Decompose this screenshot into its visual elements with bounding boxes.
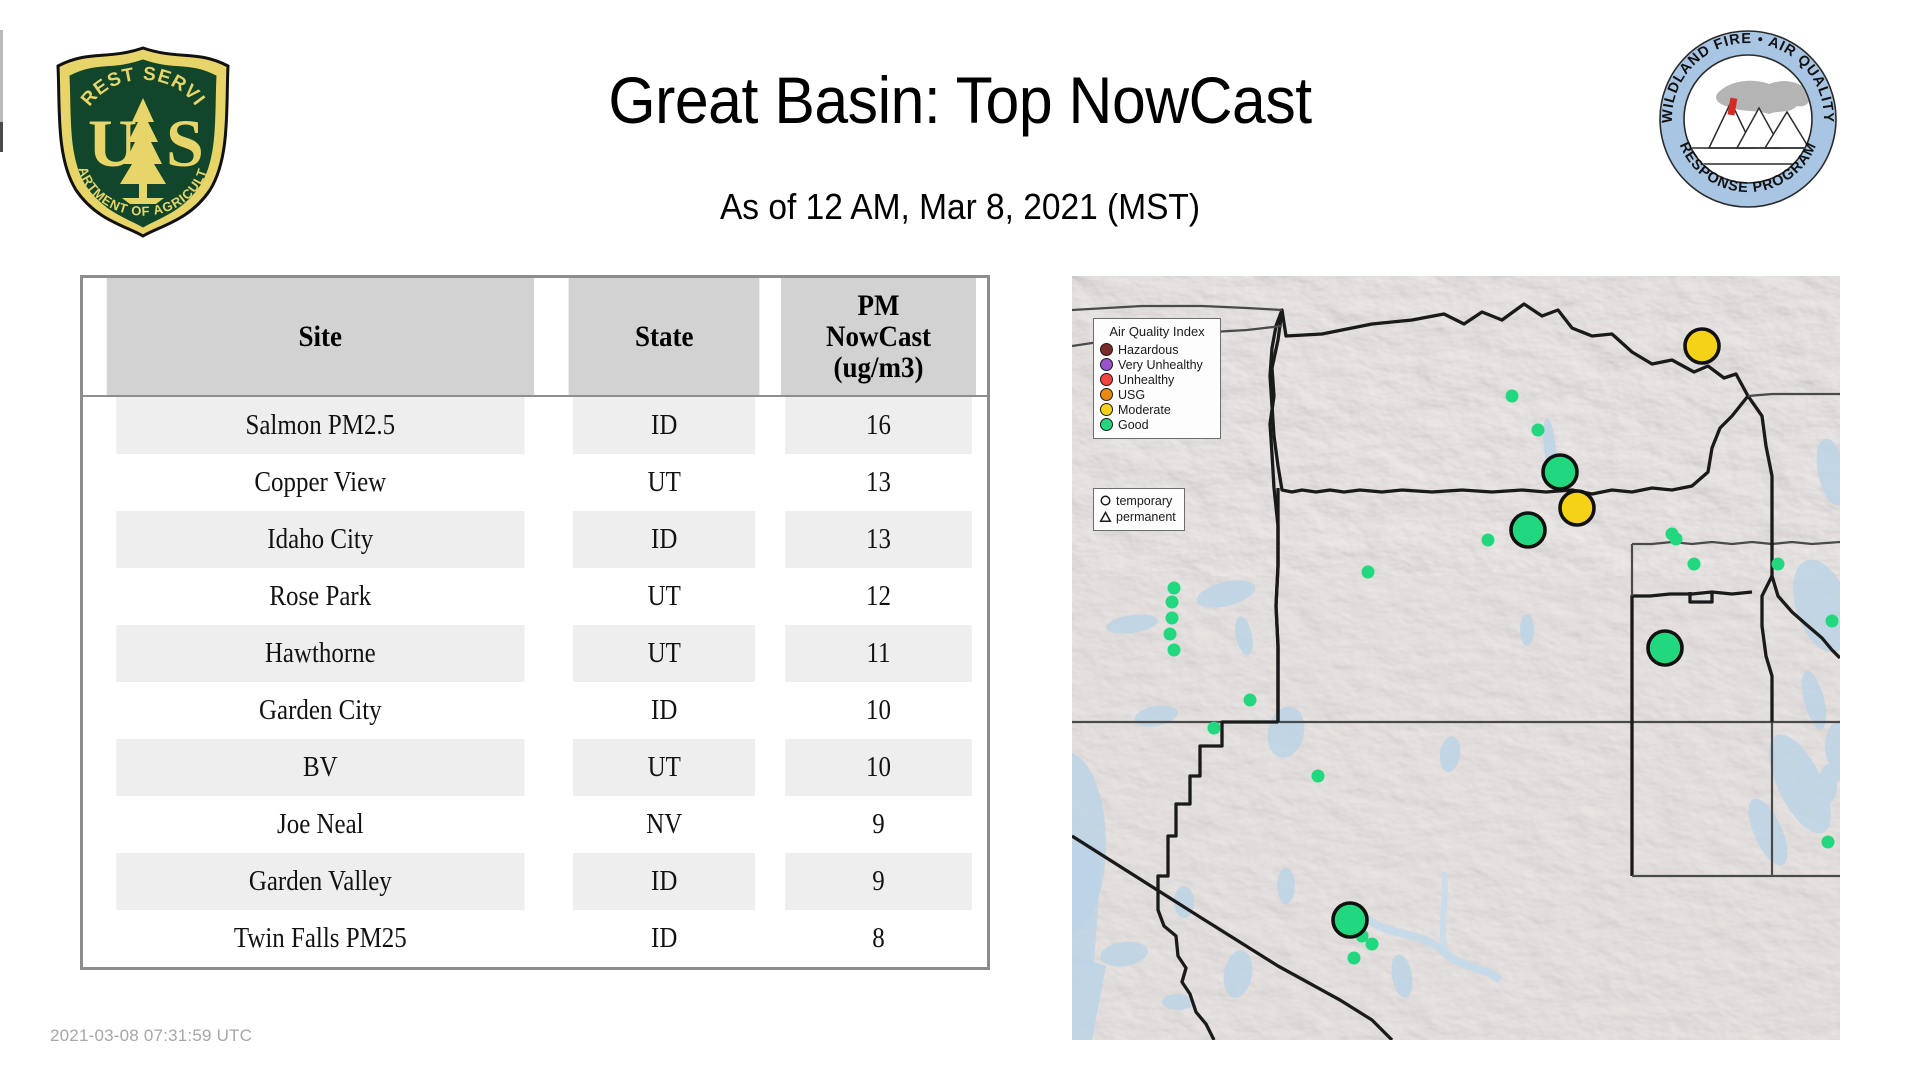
table-row: Salmon PM2.5ID16 (83, 396, 987, 454)
map-monitor-marker[interactable] (1482, 534, 1495, 547)
map-monitor-marker[interactable] (1164, 628, 1177, 641)
table-header-row: Site State PM NowCast (ug/m3) (83, 278, 987, 396)
legend-aqi-swatch-icon (1100, 343, 1113, 356)
table-cell-site: Hawthorne (116, 625, 524, 682)
map-site-marker-good[interactable] (1648, 631, 1682, 665)
legend-aqi-swatch-icon (1100, 388, 1113, 401)
legend-aqi-item: Very Unhealthy (1100, 357, 1214, 372)
legend-aqi-swatch-icon (1100, 358, 1113, 371)
table-row: Idaho CityID13 (83, 511, 987, 568)
great-basin-map[interactable]: Air Quality Index HazardousVery Unhealth… (1072, 276, 1840, 1040)
footer-timestamp: 2021-03-08 07:31:59 UTC (50, 1026, 252, 1046)
table-cell-state: ID (572, 910, 755, 967)
table-cell-state: UT (572, 454, 755, 511)
table-row: Garden CityID10 (83, 682, 987, 739)
legend-type-item-temporary: temporary (1099, 493, 1179, 509)
legend-aqi-swatch-icon (1100, 373, 1113, 386)
table-cell-value: 8 (785, 910, 972, 967)
top-nowcast-table: Site State PM NowCast (ug/m3) Salmon PM2… (80, 275, 990, 970)
column-header-state-label: State (572, 321, 756, 352)
table-cell-site: Salmon PM2.5 (116, 396, 524, 454)
column-header-pm-line1: PM (784, 290, 972, 321)
legend-aqi-label: Very Unhealthy (1118, 358, 1203, 372)
map-monitor-marker[interactable] (1244, 694, 1257, 707)
table-cell-site: Copper View (116, 454, 524, 511)
map-site-marker-moderate[interactable] (1685, 329, 1719, 363)
table-row: BVUT10 (83, 739, 987, 796)
legend-aqi-item: USG (1100, 387, 1214, 402)
map-monitor-marker[interactable] (1208, 722, 1221, 735)
table-cell-site: Joe Neal (116, 796, 524, 853)
table-row: Garden ValleyID9 (83, 853, 987, 910)
legend-aqi-item: Moderate (1100, 402, 1214, 417)
column-header-pm-line2: NowCast (784, 321, 972, 352)
table-cell-site: Garden City (116, 682, 524, 739)
column-header-state: State (568, 278, 759, 396)
table-cell-state: ID (572, 682, 755, 739)
map-site-marker-good[interactable] (1333, 903, 1367, 937)
legend-aqi-label: Unhealthy (1118, 373, 1174, 387)
column-header-pm-nowcast: PM NowCast (ug/m3) (781, 278, 976, 396)
map-monitor-marker[interactable] (1670, 533, 1683, 546)
table-row: Twin Falls PM25ID8 (83, 910, 987, 967)
legend-aqi-swatch-icon (1100, 403, 1113, 416)
table-row: Joe NealNV9 (83, 796, 987, 853)
legend-aqi-item: Unhealthy (1100, 372, 1214, 387)
map-monitor-marker[interactable] (1826, 615, 1839, 628)
map-monitor-marker[interactable] (1166, 612, 1179, 625)
table-cell-site: Rose Park (116, 568, 524, 625)
table-row: HawthorneUT11 (83, 625, 987, 682)
table-cell-site: Idaho City (116, 511, 524, 568)
column-header-site-label: Site (110, 321, 530, 352)
map-monitor-marker[interactable] (1312, 770, 1325, 783)
table-cell-value: 13 (785, 511, 972, 568)
table-cell-value: 10 (785, 739, 972, 796)
legend-aqi-item: Good (1100, 417, 1214, 432)
map-legend-site-type: temporary permanent (1093, 488, 1185, 531)
map-monitor-marker[interactable] (1348, 952, 1361, 965)
circle-icon (1099, 495, 1112, 508)
map-monitor-marker[interactable] (1688, 558, 1701, 571)
left-edge-artifact-light (0, 30, 3, 122)
map-legend-aqi: Air Quality Index HazardousVery Unhealth… (1093, 318, 1221, 439)
legend-aqi-label: Moderate (1118, 403, 1171, 417)
table-cell-state: UT (572, 625, 755, 682)
table-cell-value: 16 (785, 396, 972, 454)
left-edge-artifact-dark (0, 122, 3, 152)
map-monitor-marker[interactable] (1362, 566, 1375, 579)
map-monitor-marker[interactable] (1366, 938, 1379, 951)
legend-type-label-permanent: permanent (1116, 510, 1176, 524)
table-cell-state: UT (572, 568, 755, 625)
table-cell-state: ID (572, 396, 755, 454)
table-cell-value: 9 (785, 796, 972, 853)
table-cell-value: 11 (785, 625, 972, 682)
map-site-marker-good[interactable] (1543, 455, 1577, 489)
column-header-pm-line3: (ug/m3) (784, 352, 972, 383)
map-monitor-marker[interactable] (1772, 558, 1785, 571)
table-cell-site: BV (116, 739, 524, 796)
legend-aqi-title: Air Quality Index (1100, 324, 1214, 339)
table-cell-state: NV (572, 796, 755, 853)
map-monitor-marker[interactable] (1506, 390, 1519, 403)
map-monitor-marker[interactable] (1168, 582, 1181, 595)
column-header-site: Site (107, 278, 534, 396)
map-monitor-marker[interactable] (1168, 644, 1181, 657)
triangle-icon (1099, 511, 1112, 524)
legend-aqi-item: Hazardous (1100, 342, 1214, 357)
table-cell-state: ID (572, 853, 755, 910)
legend-aqi-swatch-icon (1100, 418, 1113, 431)
legend-type-label-temporary: temporary (1116, 494, 1172, 508)
page-title: Great Basin: Top NowCast (77, 62, 1843, 138)
page-subtitle: As of 12 AM, Mar 8, 2021 (MST) (67, 185, 1853, 229)
table-cell-state: ID (572, 511, 755, 568)
table-row: Copper ViewUT13 (83, 454, 987, 511)
table-cell-value: 9 (785, 853, 972, 910)
table-cell-value: 10 (785, 682, 972, 739)
table-row: Rose ParkUT12 (83, 568, 987, 625)
map-site-marker-moderate[interactable] (1560, 491, 1594, 525)
table-cell-value: 13 (785, 454, 972, 511)
map-monitor-marker[interactable] (1532, 424, 1545, 437)
table-cell-value: 12 (785, 568, 972, 625)
legend-aqi-label: Hazardous (1118, 343, 1178, 357)
table-cell-site: Twin Falls PM25 (116, 910, 524, 967)
legend-aqi-label: USG (1118, 388, 1145, 402)
map-monitor-marker[interactable] (1822, 836, 1835, 849)
legend-type-item-permanent: permanent (1099, 509, 1179, 525)
map-site-marker-good[interactable] (1511, 513, 1545, 547)
map-monitor-marker[interactable] (1166, 596, 1179, 609)
table-cell-state: UT (572, 739, 755, 796)
table-cell-site: Garden Valley (116, 853, 524, 910)
legend-aqi-label: Good (1118, 418, 1149, 432)
